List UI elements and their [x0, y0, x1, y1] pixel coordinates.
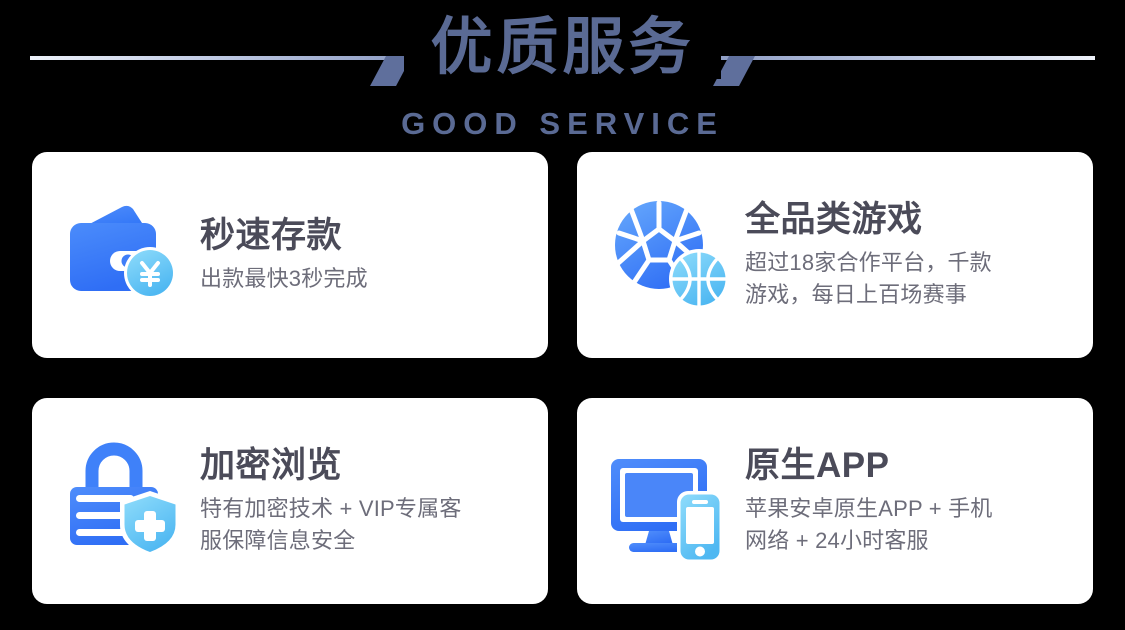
card-description: 苹果安卓原生APP + 手机 网络 + 24小时客服 [745, 493, 1075, 557]
card-description-line: 网络 + 24小时客服 [745, 525, 1075, 557]
feature-card-encryption[interactable]: 加密浏览 特有加密技术 + VIP专属客 服保障信息安全 [32, 398, 548, 604]
card-description-line: 超过18家合作平台，千款 [745, 247, 1075, 279]
card-description-line: 苹果安卓原生APP + 手机 [745, 493, 1075, 525]
feature-card-text: 加密浏览 特有加密技术 + VIP专属客 服保障信息安全 [200, 446, 530, 557]
card-title: 原生APP [745, 446, 1075, 485]
feature-card-deposit[interactable]: 秒速存款 出款最快3秒完成 [32, 152, 548, 358]
feature-card-games[interactable]: 全品类游戏 超过18家合作平台，千款 游戏，每日上百场赛事 [577, 152, 1093, 358]
decorative-rule-right [715, 56, 1095, 60]
card-title: 秒速存款 [200, 216, 530, 255]
feature-card-text: 原生APP 苹果安卓原生APP + 手机 网络 + 24小时客服 [745, 446, 1075, 557]
wallet-icon [58, 189, 190, 321]
feature-card-native-app[interactable]: 原生APP 苹果安卓原生APP + 手机 网络 + 24小时客服 [577, 398, 1093, 604]
card-title: 全品类游戏 [745, 200, 1075, 239]
card-description: 特有加密技术 + VIP专属客 服保障信息安全 [200, 493, 530, 557]
header-title-row: 优质服务 [0, 0, 1125, 96]
page-subtitle: GOOD SERVICE [401, 108, 724, 139]
monitor-phone-icon [603, 435, 735, 567]
decorative-rule-left [30, 56, 410, 60]
card-description-line: 特有加密技术 + VIP专属客 [200, 493, 530, 525]
card-description: 超过18家合作平台，千款 游戏，每日上百场赛事 [745, 247, 1075, 311]
banner-header: 优质服务 GOOD SERVICE [0, 0, 1125, 148]
card-description-line: 出款最快3秒完成 [200, 263, 530, 294]
feature-card-grid: 秒速存款 出款最快3秒完成 [32, 152, 1093, 604]
card-title: 加密浏览 [200, 446, 530, 485]
card-description: 出款最快3秒完成 [200, 263, 530, 294]
feature-card-text: 全品类游戏 超过18家合作平台，千款 游戏，每日上百场赛事 [745, 200, 1075, 311]
soccer-basketball-icon [603, 189, 735, 321]
promo-banner: 优质服务 GOOD SERVICE [0, 0, 1125, 630]
lock-shield-icon [58, 435, 190, 567]
card-description-line: 服保障信息安全 [200, 525, 530, 557]
card-description-line: 游戏，每日上百场赛事 [745, 279, 1075, 311]
feature-card-text: 秒速存款 出款最快3秒完成 [200, 216, 530, 294]
page-title: 优质服务 [404, 17, 720, 79]
